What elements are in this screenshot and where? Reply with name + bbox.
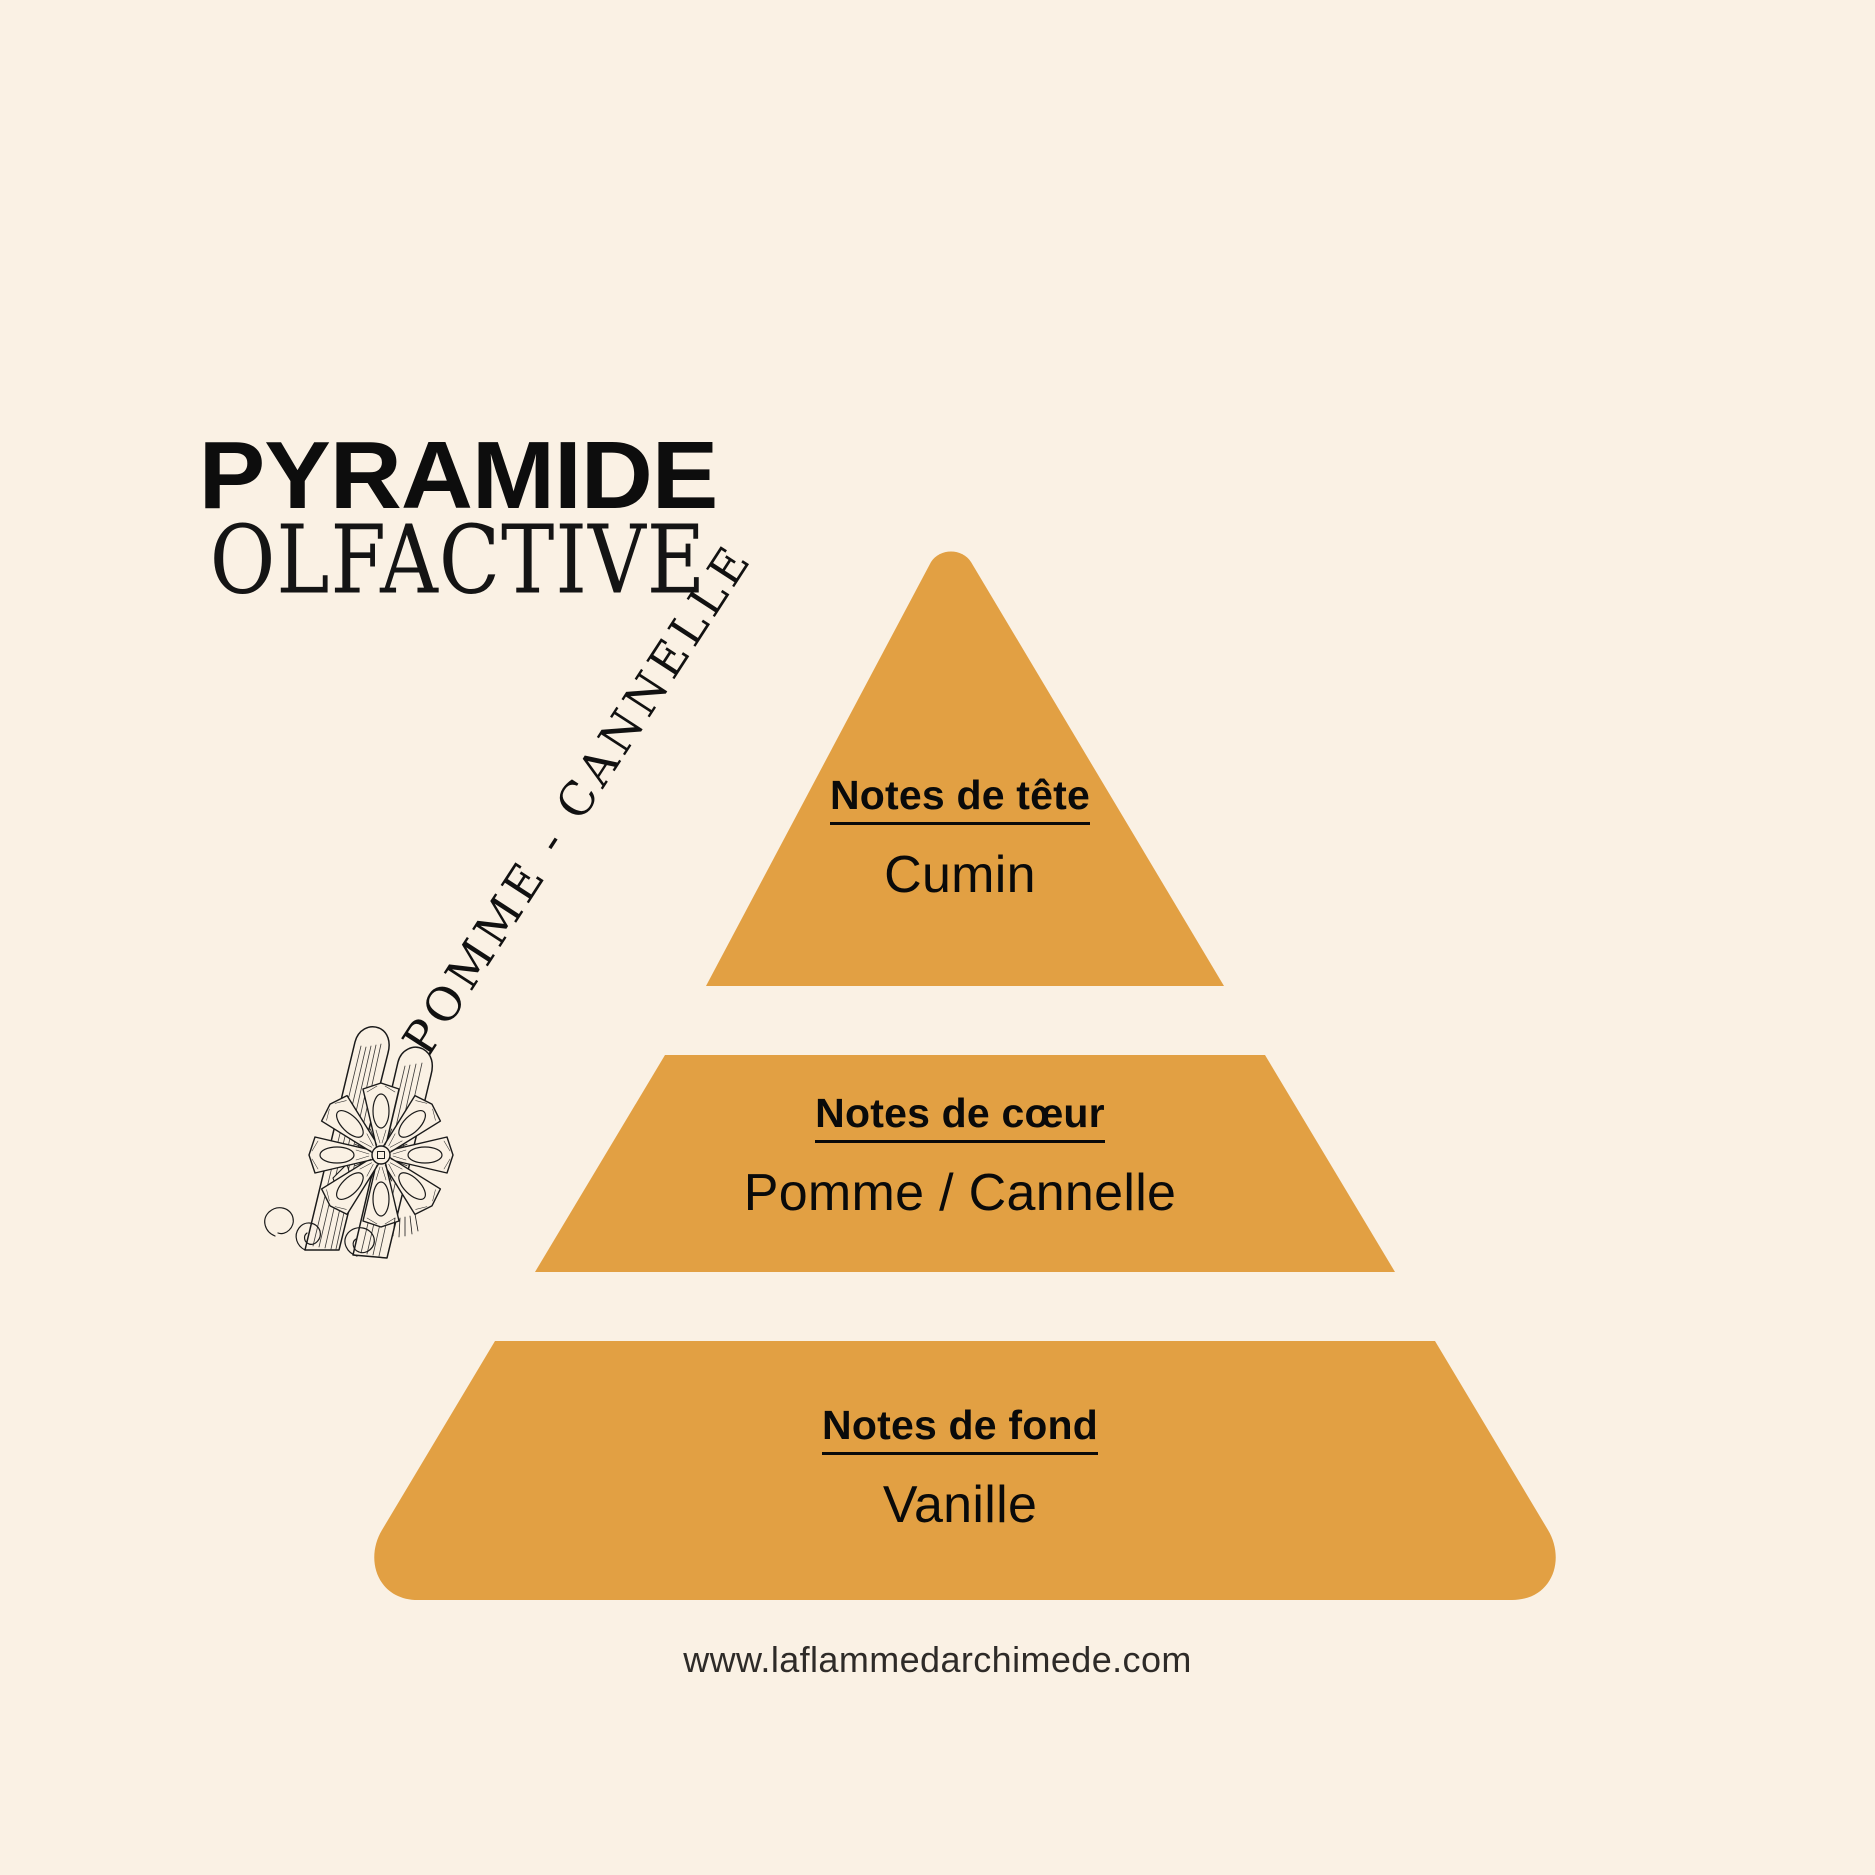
pyramid-tier-top	[706, 552, 1224, 987]
cinnamon-star-anise-icon	[235, 950, 525, 1260]
website-url[interactable]: www.laflammedarchimede.com	[0, 1639, 1875, 1681]
tier-bottom-label-group: Notes de fond Vanille	[660, 1402, 1260, 1534]
tier-middle-label-group: Notes de cœur Pomme / Cannelle	[660, 1090, 1260, 1222]
olfactory-pyramid-graphic	[0, 0, 1875, 1875]
page-title: PYRAMIDE OLFACTIVE	[148, 432, 768, 592]
tier-bottom-note: Vanille	[660, 1477, 1260, 1534]
tier-top-heading: Notes de tête	[830, 772, 1090, 825]
title-line-olfactive: OLFACTIVE	[148, 516, 768, 606]
poster-canvas: PYRAMIDE OLFACTIVE POMME - CANNELLE	[0, 0, 1875, 1875]
tier-top-note: Cumin	[660, 847, 1260, 904]
tier-top-label-group: Notes de tête Cumin	[660, 772, 1260, 904]
tier-middle-note: Pomme / Cannelle	[660, 1165, 1260, 1222]
tier-middle-heading: Notes de cœur	[815, 1090, 1105, 1143]
tier-bottom-heading: Notes de fond	[822, 1402, 1098, 1455]
